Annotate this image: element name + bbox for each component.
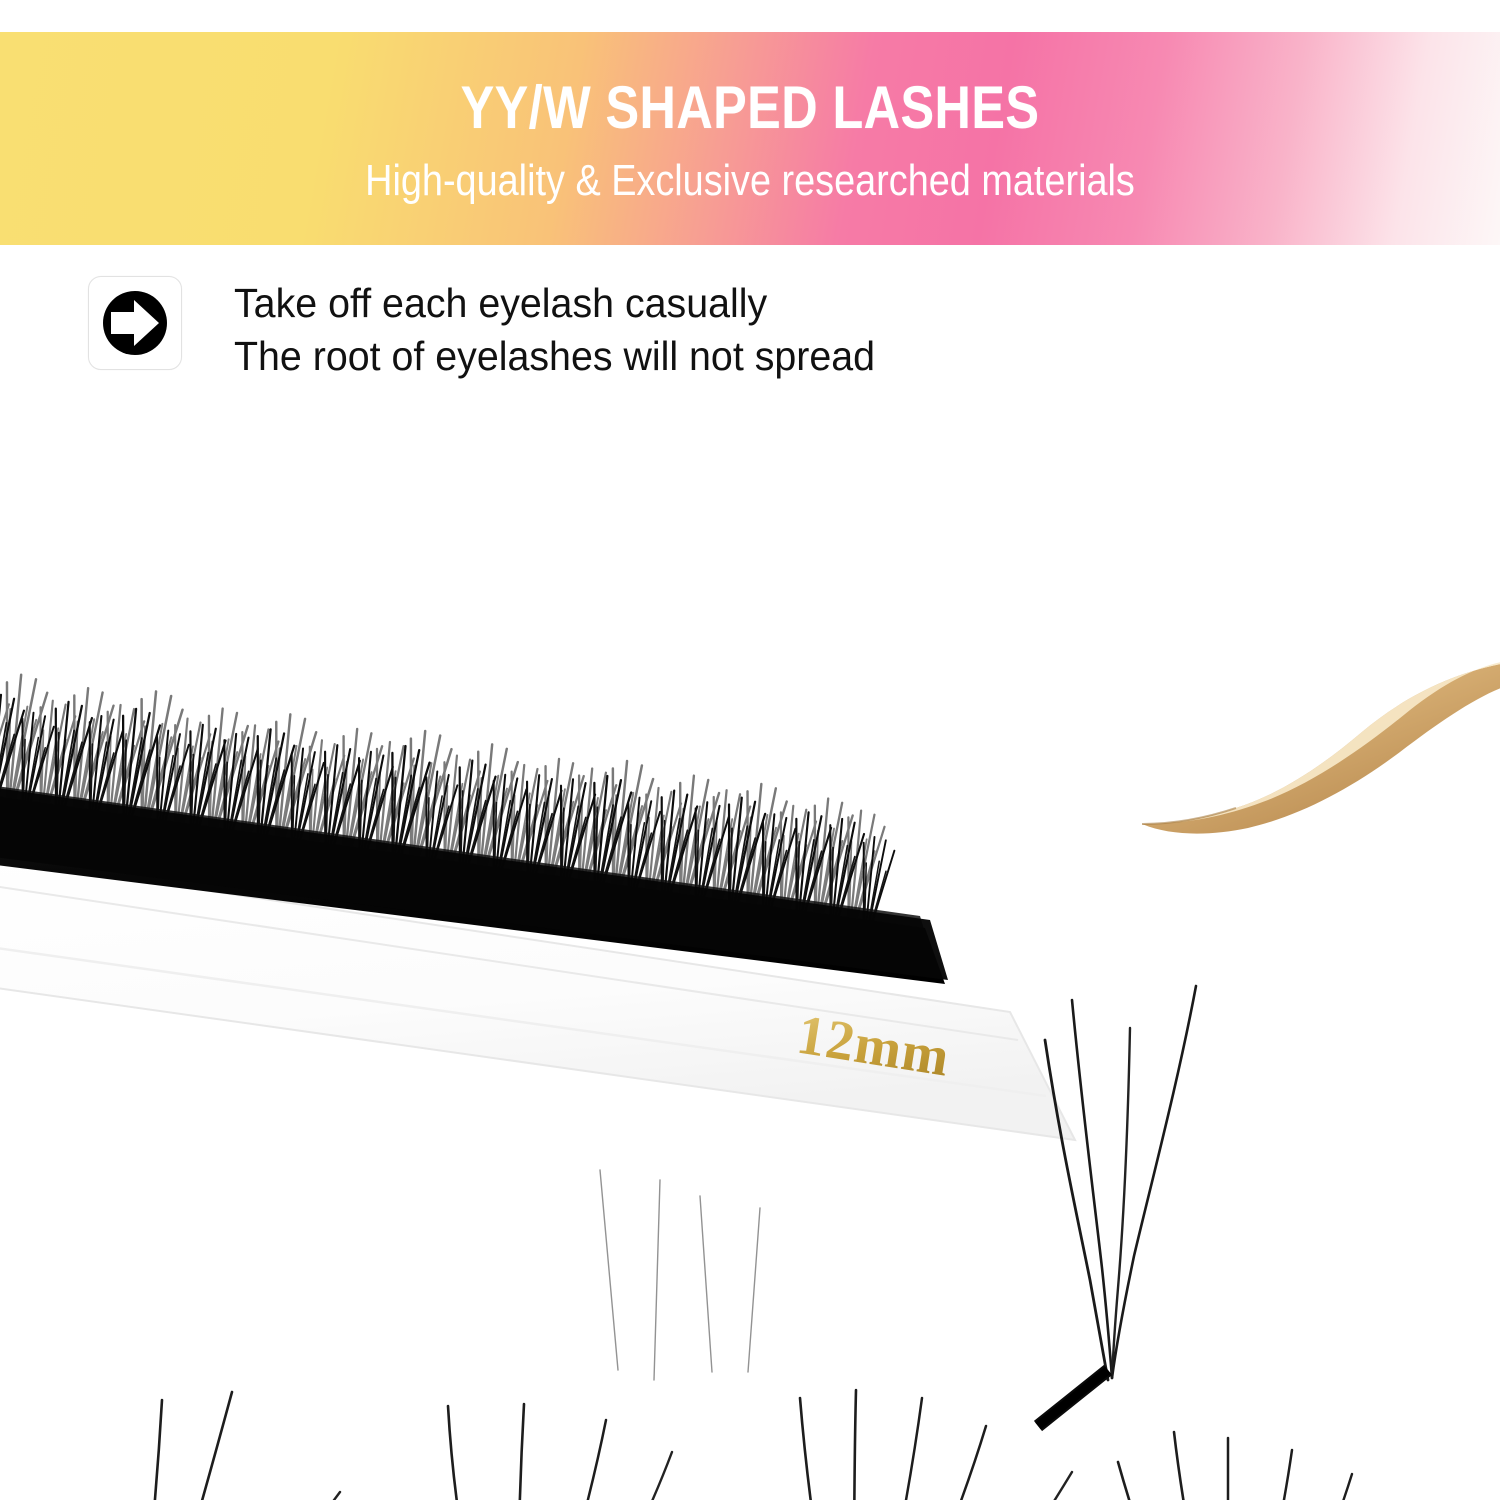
instruction-text-group: Take off each eyelash casually The root … <box>234 276 902 383</box>
arrow-right-circle-icon <box>101 289 169 357</box>
product-photo: 12mm <box>0 380 1500 1500</box>
page-title: YY/W SHAPED LASHES <box>120 78 1380 138</box>
product-detail-image: YY/W SHAPED LASHES High-quality & Exclus… <box>0 0 1500 1500</box>
instruction-block: Take off each eyelash casually The root … <box>88 276 1088 388</box>
banner-subtitle: High-quality & Exclusive researched mate… <box>105 159 1395 203</box>
instruction-line-2: The root of eyelashes will not spread <box>234 330 875 383</box>
header-banner: YY/W SHAPED LASHES High-quality & Exclus… <box>0 32 1500 245</box>
instruction-line-1: Take off each eyelash casually <box>234 277 875 330</box>
instruction-icon-frame <box>88 276 182 370</box>
